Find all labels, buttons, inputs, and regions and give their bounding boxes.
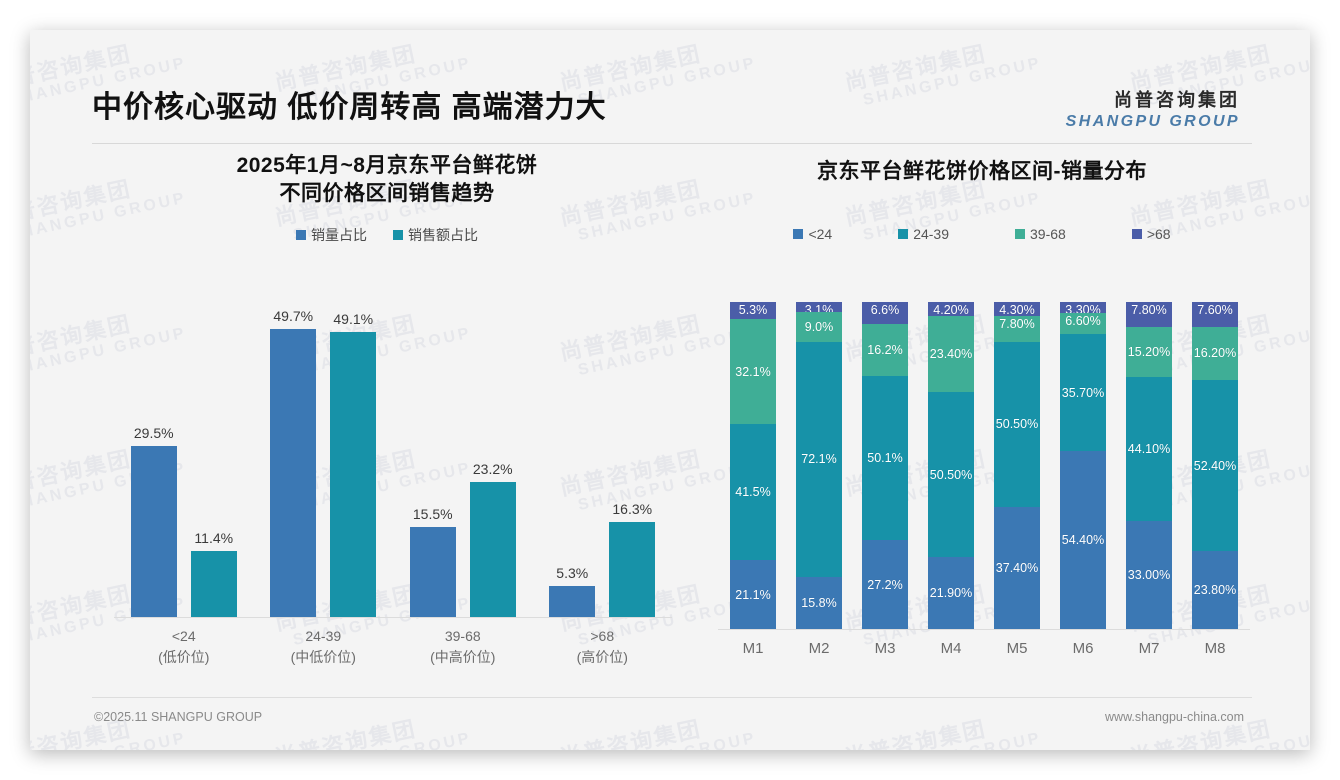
stacked-bar-segment[interactable]: 4.30% [994,302,1040,316]
page-title: 中价核心驱动 低价周转高 高端潜力大 [92,82,607,126]
left-chart-legend-item[interactable]: 销量占比 [296,225,367,245]
bar-group: 49.7%49.1% [262,298,385,617]
segment-value-label: 32.1% [735,365,770,379]
stacked-bar-column[interactable]: 3.1%9.0%72.1%15.8% [796,302,842,629]
stacked-bar-segment[interactable]: 21.1% [730,560,776,629]
segment-value-label: 50.1% [867,451,902,465]
right-chart-legend-item[interactable]: <24 [793,226,832,242]
stacked-bar-segment[interactable]: 16.2% [862,324,908,377]
bar-value-label: 5.3% [556,565,588,581]
bar-value-label: 29.5% [134,425,174,441]
stacked-bar-segment[interactable]: 54.40% [1060,451,1106,629]
legend-swatch-icon [393,230,403,240]
bar[interactable]: 29.5% [131,446,177,617]
stacked-bar-segment[interactable]: 5.3% [730,302,776,319]
x-axis-tick-label: M8 [1192,640,1238,670]
stacked-bar-column[interactable]: 4.20%23.40%50.50%21.90% [928,302,974,629]
x-axis-tick-label: M1 [730,640,776,670]
legend-label: 销量占比 [311,225,367,245]
segment-value-label: 52.40% [1194,459,1236,473]
stacked-bar-segment[interactable]: 72.1% [796,342,842,578]
stacked-bar-segment[interactable]: 7.80% [1126,302,1172,327]
stacked-bar-segment[interactable]: 7.80% [994,316,1040,342]
left-chart-title: 2025年1月~8月京东平台鲜花饼 不同价格区间销售趋势 [92,152,682,209]
stacked-bar-segment[interactable]: 23.40% [928,316,974,393]
slide-header: 中价核心驱动 低价周转高 高端潜力大 尚普咨询集团 SHANGPU GROUP [30,30,1310,110]
right-chart-panel: 京东平台鲜花饼价格区间-销量分布 <2424-3939-68>68 5.3%32… [702,152,1262,712]
x-axis-tick: 39-68(中高价位) [401,626,524,668]
stacked-bar-column[interactable]: 5.3%32.1%41.5%21.1% [730,302,776,629]
segment-value-label: 23.40% [930,347,972,361]
segment-value-label: 16.20% [1194,346,1236,360]
brand-logo-cn: 尚普咨询集团 [1066,86,1240,112]
bar-value-label: 23.2% [473,461,513,477]
stacked-bar-segment[interactable]: 15.8% [796,577,842,629]
segment-value-label: 44.10% [1128,442,1170,456]
bar[interactable]: 49.7% [270,329,316,617]
segment-value-label: 7.60% [1197,303,1232,317]
segment-value-label: 54.40% [1062,533,1104,547]
bar[interactable]: 11.4% [191,551,237,617]
stacked-bar-segment[interactable]: 21.90% [928,557,974,629]
stacked-bar-segment[interactable]: 33.00% [1126,521,1172,629]
stacked-bar-segment[interactable]: 3.30% [1060,302,1106,313]
stacked-bar-column[interactable]: 7.60%16.20%52.40%23.80% [1192,302,1238,629]
legend-swatch-icon [1132,229,1142,239]
stacked-bar-segment[interactable]: 50.1% [862,376,908,540]
x-axis-tick-label: M4 [928,640,974,670]
bar-column[interactable]: 16.3% [609,298,655,617]
left-chart-title-line2: 不同价格区间销售趋势 [92,180,682,208]
legend-swatch-icon [793,229,803,239]
segment-value-label: 33.00% [1128,568,1170,582]
left-chart-bars: 29.5%11.4%49.7%49.1%15.5%23.2%5.3%16.3% [114,298,672,618]
stacked-bar-column[interactable]: 7.80%15.20%44.10%33.00% [1126,302,1172,629]
x-axis-tick-label: 24-39 [262,626,385,647]
x-axis-tick-label: M5 [994,640,1040,670]
brand-logo: 尚普咨询集团 SHANGPU GROUP [1066,86,1240,131]
left-chart-title-line1: 2025年1月~8月京东平台鲜花饼 [92,152,682,180]
segment-value-label: 7.80% [999,317,1034,331]
x-axis-tick-label: M2 [796,640,842,670]
bar-column[interactable]: 49.1% [330,298,376,617]
stacked-bar-segment[interactable]: 37.40% [994,507,1040,629]
segment-value-label: 16.2% [867,343,902,357]
segment-value-label: 21.1% [735,588,770,602]
x-axis-tick-label: M3 [862,640,908,670]
bar[interactable]: 23.2% [470,482,516,617]
x-axis-tick: 24-39(中低价位) [262,626,385,668]
x-axis-tick: <24(低价位) [122,626,245,668]
segment-value-label: 21.90% [930,586,972,600]
bar[interactable]: 5.3% [549,586,595,617]
segment-value-label: 23.80% [1194,583,1236,597]
stacked-bar-segment[interactable]: 15.20% [1126,327,1172,377]
bar-value-label: 15.5% [413,506,453,522]
stacked-bar-segment[interactable]: 32.1% [730,319,776,424]
segment-value-label: 6.60% [1065,314,1100,328]
right-chart-title: 京东平台鲜花饼价格区间-销量分布 [702,152,1262,186]
header-divider [92,143,1252,144]
segment-value-label: 35.70% [1062,386,1104,400]
left-chart-panel: 2025年1月~8月京东平台鲜花饼 不同价格区间销售趋势 销量占比销售额占比 2… [92,152,682,712]
left-chart-legend: 销量占比销售额占比 [92,225,682,245]
segment-value-label: 27.2% [867,578,902,592]
legend-swatch-icon [296,230,306,240]
bar-column[interactable]: 5.3% [549,298,595,617]
stacked-bar-segment[interactable]: 7.60% [1192,302,1238,327]
stacked-bar-column[interactable]: 4.30%7.80%50.50%37.40% [994,302,1040,629]
segment-value-label: 5.3% [739,303,768,317]
legend-label: 销售额占比 [408,225,478,245]
stacked-bar-segment[interactable]: 9.0% [796,312,842,341]
x-axis-tick-sublabel: (中低价位) [262,647,385,668]
stacked-bar-segment[interactable]: 3.1% [796,302,842,312]
legend-swatch-icon [1015,229,1025,239]
stacked-bar-segment[interactable]: 6.60% [1060,313,1106,335]
stacked-bar-segment[interactable]: 35.70% [1060,334,1106,451]
bar-column[interactable]: 49.7% [270,298,316,617]
stacked-bar-segment[interactable]: 16.20% [1192,327,1238,380]
stacked-bar-segment[interactable]: 44.10% [1126,377,1172,521]
footer-divider [92,697,1252,698]
legend-label: >68 [1147,226,1171,242]
x-axis-tick: >68(高价位) [541,626,664,668]
right-chart-plot-area: 5.3%32.1%41.5%21.1%3.1%9.0%72.1%15.8%6.6… [712,302,1256,670]
bar-value-label: 49.7% [273,308,313,324]
right-chart-legend-item[interactable]: 24-39 [898,226,949,242]
right-chart-bars: 5.3%32.1%41.5%21.1%3.1%9.0%72.1%15.8%6.6… [718,302,1250,630]
segment-value-label: 9.0% [805,320,834,334]
segment-value-label: 50.50% [930,468,972,482]
stacked-bar-segment[interactable]: 4.20% [928,302,974,316]
right-chart-legend: <2424-3939-68>68 [702,226,1262,242]
legend-label: 39-68 [1030,226,1066,242]
bar-column[interactable]: 29.5% [131,298,177,617]
x-axis-tick-label: >68 [541,626,664,647]
footer-website: www.shangpu-china.com [1105,710,1244,724]
bar[interactable]: 15.5% [410,527,456,617]
bar-value-label: 16.3% [612,501,652,517]
stacked-bar-segment[interactable]: 27.2% [862,540,908,629]
stacked-bar-column[interactable]: 6.6%16.2%50.1%27.2% [862,302,908,629]
legend-label: 24-39 [913,226,949,242]
left-chart-x-axis: <24(低价位)24-39(中低价位)39-68(中高价位)>68(高价位) [114,618,672,670]
bar[interactable]: 16.3% [609,522,655,617]
bar-value-label: 11.4% [194,530,233,546]
bar-group: 15.5%23.2% [401,298,524,617]
stacked-bar-segment[interactable]: 41.5% [730,424,776,560]
legend-swatch-icon [898,229,908,239]
segment-value-label: 72.1% [801,452,836,466]
x-axis-tick-label: M7 [1126,640,1172,670]
left-chart-plot-area: 29.5%11.4%49.7%49.1%15.5%23.2%5.3%16.3% … [92,298,682,670]
bar-group: 5.3%16.3% [541,298,664,617]
x-axis-tick-sublabel: (低价位) [122,647,245,668]
brand-logo-en: SHANGPU GROUP [1066,113,1240,131]
stacked-bar-segment[interactable]: 6.6% [862,302,908,324]
bar-value-label: 49.1% [333,311,373,327]
x-axis-tick-label: M6 [1060,640,1106,670]
right-chart-legend-item[interactable]: 39-68 [1015,226,1066,242]
stacked-bar-segment[interactable]: 23.80% [1192,551,1238,629]
right-chart-legend-item[interactable]: >68 [1132,226,1171,242]
x-axis-tick-label: <24 [122,626,245,647]
x-axis-tick-sublabel: (高价位) [541,647,664,668]
slide-card: 尚普咨询集团SHANGPU GROUP尚普咨询集团SHANGPU GROUP尚普… [30,30,1310,750]
stacked-bar-segment[interactable]: 50.50% [928,392,974,557]
segment-value-label: 50.50% [996,417,1038,431]
segment-value-label: 7.80% [1131,303,1166,317]
left-chart-legend-item[interactable]: 销售额占比 [393,225,478,245]
segment-value-label: 6.6% [871,303,900,317]
bar-column[interactable]: 23.2% [470,298,516,617]
bar-group: 29.5%11.4% [122,298,245,617]
x-axis-tick-sublabel: (中高价位) [401,647,524,668]
bar-column[interactable]: 15.5% [410,298,456,617]
stacked-bar-column[interactable]: 3.30%6.60%35.70%54.40% [1060,302,1106,629]
bar-column[interactable]: 11.4% [191,298,237,617]
x-axis-tick-label: 39-68 [401,626,524,647]
stacked-bar-segment[interactable]: 50.50% [994,342,1040,507]
segment-value-label: 15.8% [801,596,836,610]
segment-value-label: 4.30% [999,303,1034,317]
footer-copyright: ©2025.11 SHANGPU GROUP [94,710,262,724]
stacked-bar-segment[interactable]: 52.40% [1192,380,1238,551]
segment-value-label: 15.20% [1128,345,1170,359]
segment-value-label: 41.5% [735,485,770,499]
segment-value-label: 37.40% [996,561,1038,575]
bar[interactable]: 49.1% [330,332,376,617]
legend-label: <24 [808,226,832,242]
right-chart-x-axis: M1M2M3M4M5M6M7M8 [718,630,1250,670]
